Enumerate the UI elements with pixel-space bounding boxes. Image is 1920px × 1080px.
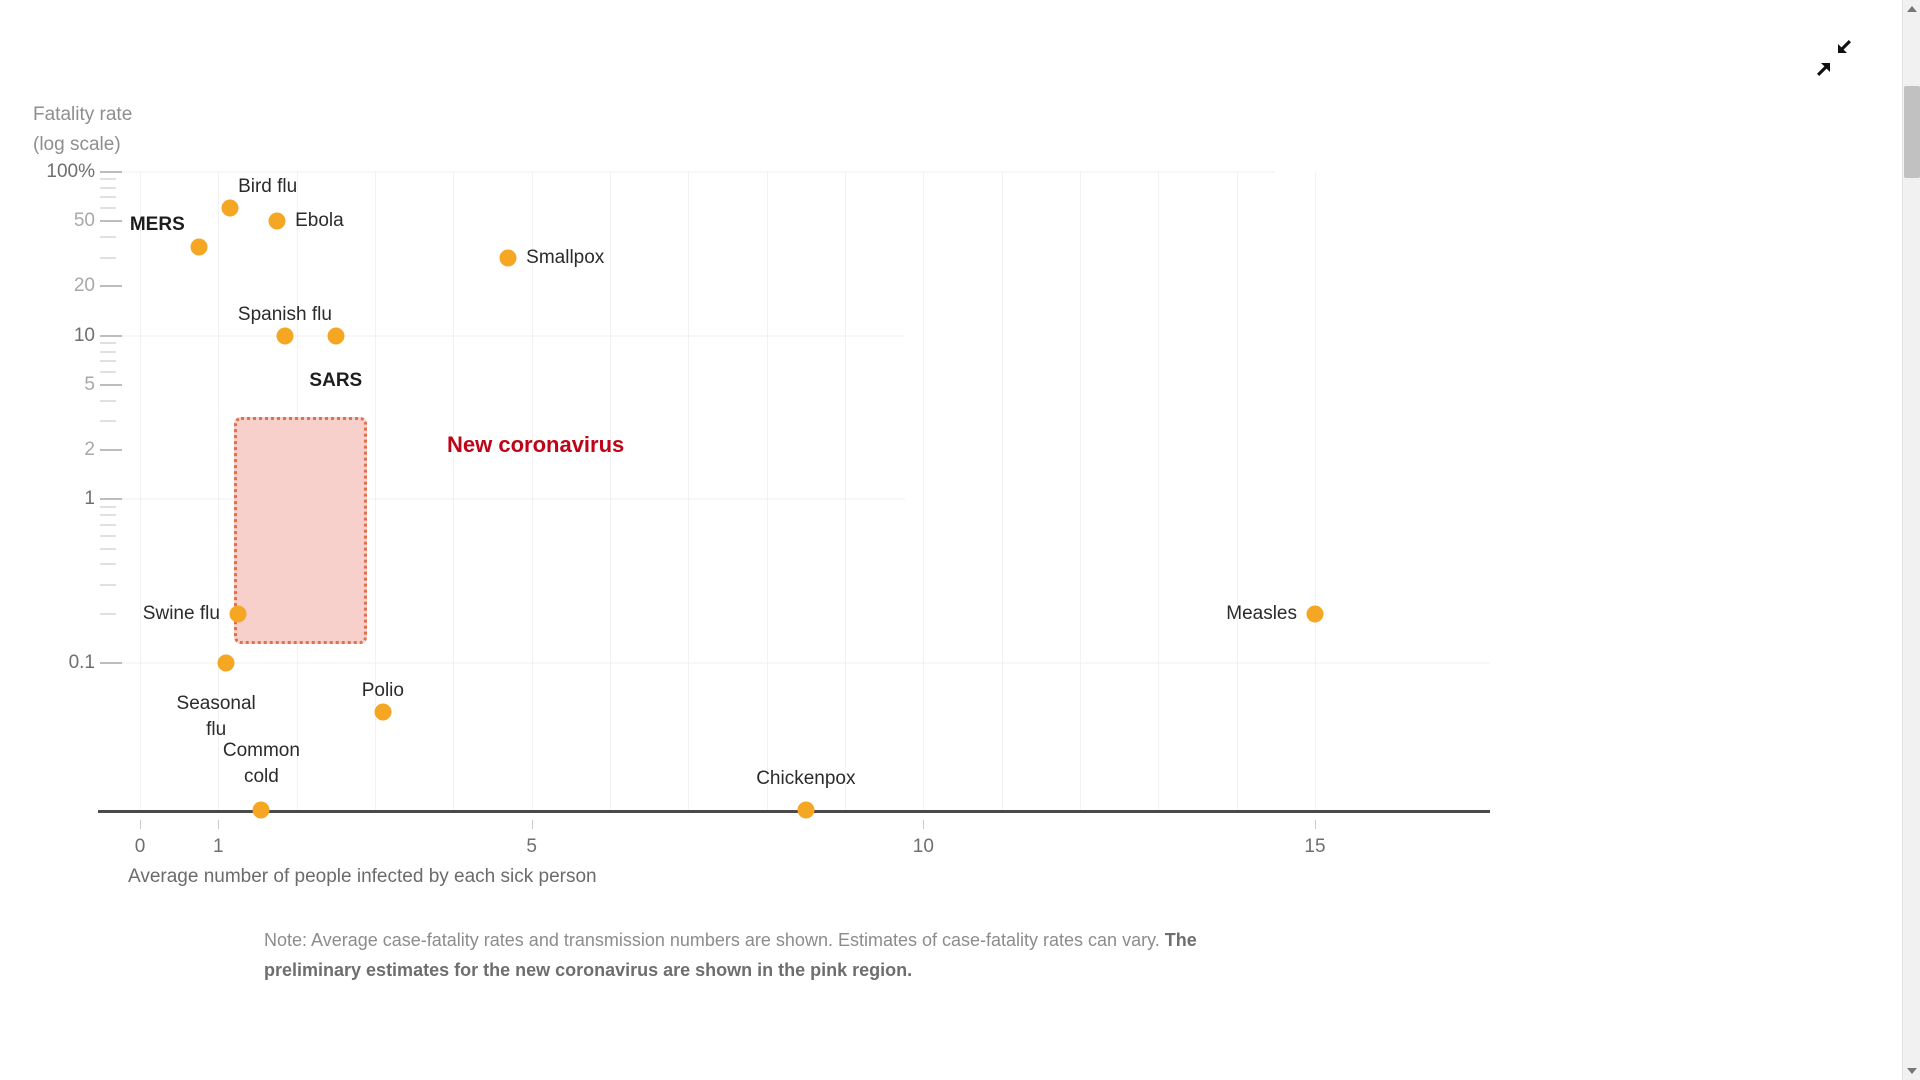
y-axis-tick-mark [100, 257, 116, 259]
y-axis-tick-label: 5 [10, 374, 95, 396]
note-plain-text: Note: Average case-fatality rates and tr… [264, 930, 1165, 950]
x-axis-tick-mark [218, 820, 219, 829]
data-point-label-smallpox: Smallpox [526, 245, 604, 271]
data-point-label-swine-flu: Swine flu [143, 601, 220, 627]
data-point-spanish-flu[interactable] [276, 327, 293, 344]
gridline-horizontal [122, 663, 1490, 664]
y-axis-tick-mark [100, 351, 116, 353]
y-axis-tick-mark [100, 196, 116, 198]
data-point-swine-flu[interactable] [229, 605, 246, 622]
data-point-label-spanish-flu: Spanish flu [238, 302, 332, 328]
data-point-label-sars: SARS [309, 368, 362, 394]
data-point-sars[interactable] [327, 327, 344, 344]
gridline-horizontal [122, 172, 1275, 173]
gridline-vertical [1002, 172, 1003, 810]
y-axis-tick-mark [100, 548, 116, 550]
gridline-vertical [610, 172, 611, 810]
data-point-label-ebola: Ebola [295, 208, 344, 234]
gridline-vertical [845, 172, 846, 810]
x-axis-line [98, 810, 1490, 813]
x-axis-tick-label: 15 [1285, 836, 1345, 858]
x-axis-tick-mark [140, 820, 141, 829]
y-axis-tick-mark [100, 371, 116, 373]
y-axis-tick-mark [100, 285, 122, 287]
y-axis-tick-mark [100, 187, 116, 189]
gridline-vertical [1080, 172, 1081, 810]
gridline-vertical [453, 172, 454, 810]
data-point-label-chickenpox: Chickenpox [756, 766, 855, 792]
gridline-vertical [1158, 172, 1159, 810]
y-axis-tick-label: 2 [10, 439, 95, 461]
y-axis-title: Fatality rate (log scale) [33, 100, 132, 160]
y-axis-tick-mark [100, 498, 122, 500]
y-axis-tick-mark [100, 535, 116, 537]
y-axis-tick-mark [100, 178, 116, 180]
y-axis-tick-mark [100, 400, 116, 402]
scroll-down-arrow-icon[interactable] [1903, 1062, 1920, 1080]
y-axis-tick-label: 0.1 [10, 652, 95, 674]
data-point-label-polio: Polio [362, 678, 404, 704]
y-axis-tick-mark [100, 384, 122, 386]
y-axis-tick-mark [100, 584, 116, 586]
x-axis-tick-label: 5 [502, 836, 562, 858]
x-axis-tick-label: 10 [893, 836, 953, 858]
scrollbar-thumb[interactable] [1904, 86, 1920, 178]
x-axis-title: Average number of people infected by eac… [128, 866, 597, 888]
gridline-horizontal [122, 335, 905, 336]
scroll-up-arrow-icon[interactable] [1903, 0, 1920, 18]
data-point-label-common-cold: Common cold [223, 738, 300, 790]
x-axis-tick-mark [1315, 820, 1316, 829]
gridline-vertical [767, 172, 768, 810]
gridline-vertical [923, 172, 924, 810]
data-point-seasonal-flu[interactable] [218, 655, 235, 672]
y-axis-tick-mark [100, 449, 122, 451]
data-point-polio[interactable] [374, 704, 391, 721]
vertical-scrollbar[interactable] [1902, 0, 1920, 1080]
data-point-common-cold[interactable] [253, 802, 270, 819]
y-axis-tick-label: 1 [10, 488, 95, 510]
data-point-smallpox[interactable] [500, 249, 517, 266]
x-axis-tick-mark [532, 820, 533, 829]
data-point-measles[interactable] [1307, 605, 1324, 622]
data-point-chickenpox[interactable] [797, 802, 814, 819]
scatter-chart: Fatality rate (log scale) 100%5020105210… [0, 0, 1900, 1080]
y-axis-tick-mark [100, 524, 116, 526]
data-point-mers[interactable] [190, 238, 207, 255]
y-axis-tick-mark [100, 335, 122, 337]
gridline-vertical [1315, 172, 1316, 810]
y-axis-tick-label: 100% [10, 161, 95, 183]
gridline-vertical [1237, 172, 1238, 810]
chart-note: Note: Average case-fatality rates and tr… [264, 925, 1274, 985]
data-point-label-bird-flu: Bird flu [238, 174, 297, 200]
y-axis-tick-mark [100, 220, 122, 222]
data-point-label-measles: Measles [1226, 601, 1297, 627]
gridline-vertical [688, 172, 689, 810]
y-axis-tick-mark [100, 662, 122, 664]
gridline-vertical [140, 172, 141, 810]
exit-fullscreen-icon[interactable] [1812, 36, 1856, 80]
data-point-ebola[interactable] [269, 213, 286, 230]
y-axis-tick-mark [100, 613, 116, 615]
data-point-label-mers: MERS [130, 212, 185, 238]
data-point-bird-flu[interactable] [222, 200, 239, 217]
y-axis-tick-mark [100, 236, 116, 238]
y-axis-tick-label: 10 [10, 325, 95, 347]
x-axis-tick-label: 0 [110, 836, 170, 858]
y-axis-tick-mark [100, 342, 116, 344]
y-axis-tick-label: 20 [10, 275, 95, 297]
page-root: Fatality rate (log scale) 100%5020105210… [0, 0, 1920, 1080]
y-axis-tick-mark [100, 563, 116, 565]
y-axis-tick-mark [100, 506, 116, 508]
y-axis-tick-mark [100, 514, 116, 516]
y-axis-tick-mark [100, 360, 116, 362]
y-axis-tick-mark [100, 171, 122, 173]
new-coronavirus-label: New coronavirus [447, 432, 624, 458]
data-point-label-seasonal-flu: Seasonal flu [177, 691, 256, 743]
x-axis-tick-label: 1 [188, 836, 248, 858]
y-axis-tick-mark [100, 420, 116, 422]
y-axis-tick-mark [100, 207, 116, 209]
new-coronavirus-region [234, 417, 367, 645]
y-axis-tick-label: 50 [10, 210, 95, 232]
x-axis-tick-mark [923, 820, 924, 829]
